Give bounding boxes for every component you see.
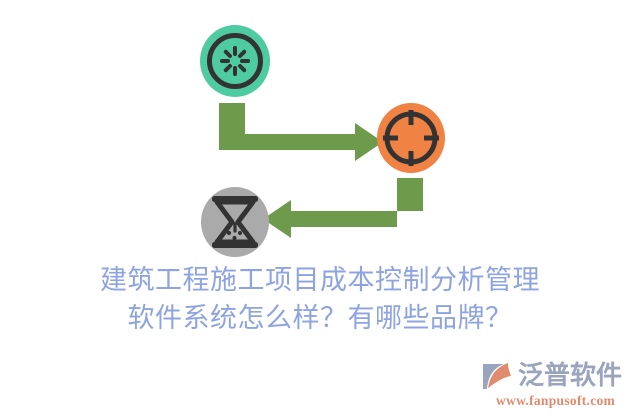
flow-node-target[interactable] <box>377 103 445 173</box>
caption-line-2: 软件系统怎么样？有哪些品牌？ <box>0 300 640 338</box>
flow-node-hourglass[interactable] <box>201 187 269 257</box>
brand-url: www.fanpusoft.com <box>496 393 615 409</box>
fanpu-logo-icon <box>480 360 514 392</box>
caption-line-1: 建筑工程施工项目成本控制分析管理 <box>0 262 640 300</box>
brand-watermark: 泛普软件 www.fanpusoft.com <box>480 360 632 414</box>
brand-name: 泛普软件 <box>518 361 622 391</box>
arrow-connector-1 <box>219 103 383 161</box>
page-title-caption: 建筑工程施工项目成本控制分析管理 软件系统怎么样？有哪些品牌？ <box>0 262 640 338</box>
arrow-connector-2 <box>263 178 423 238</box>
flow-node-spinner[interactable] <box>200 25 270 97</box>
page-canvas: 建筑工程施工项目成本控制分析管理 软件系统怎么样？有哪些品牌？ 泛普软件 www… <box>0 0 640 420</box>
process-flow-diagram <box>0 0 640 270</box>
brand-row: 泛普软件 <box>480 360 622 392</box>
